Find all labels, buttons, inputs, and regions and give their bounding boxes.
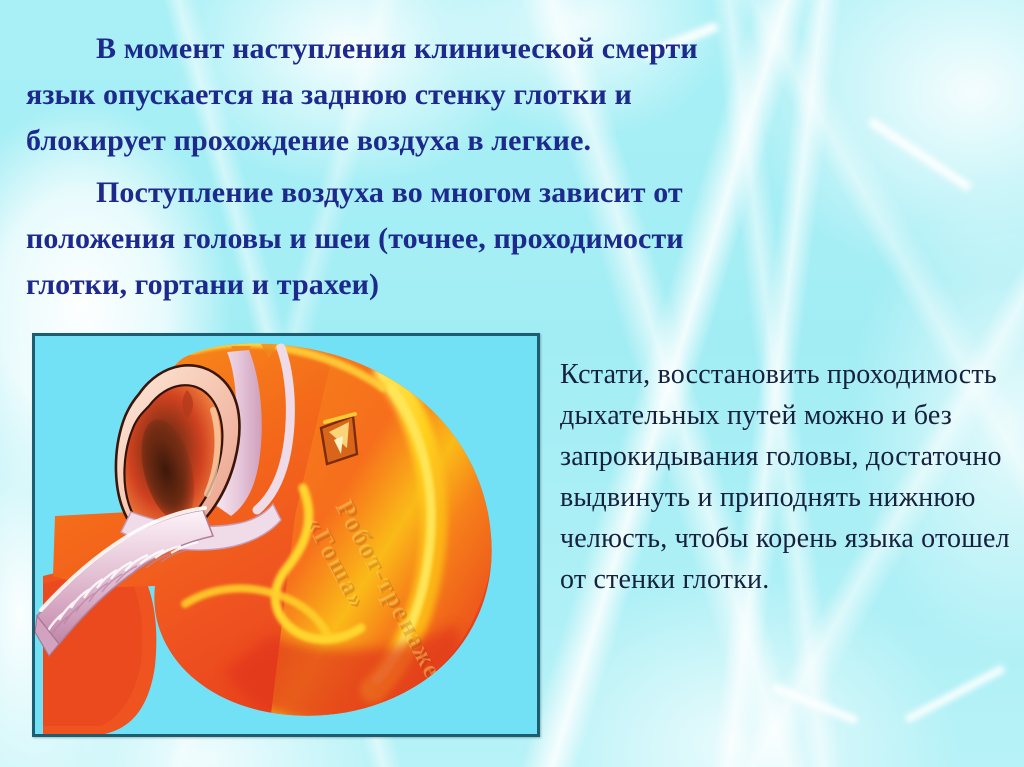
anatomy-figure: Робот-тренажер «Гоша» Робот-тренажер «Го…	[32, 333, 540, 737]
side-text-block: Кстати, восстановить проходимость дыхате…	[560, 354, 1012, 600]
slide-canvas: В момент наступления клинической смерти …	[0, 0, 1024, 767]
background-shard	[868, 117, 973, 192]
ear-cartilage-detail	[321, 414, 357, 464]
headline-paragraph-1: В момент наступления клинической смерти …	[26, 26, 726, 164]
anatomy-illustration-icon: Робот-тренажер «Гоша» Робот-тренажер «Го…	[35, 336, 537, 734]
headline-paragraph-2: Поступление воздуха во многом зависит от…	[26, 170, 726, 308]
background-shard	[772, 683, 858, 724]
side-paragraph-1: Кстати, восстановить проходимость дыхате…	[560, 354, 1012, 600]
anatomy-figure-background: Робот-тренажер «Гоша» Робот-тренажер «Го…	[35, 336, 537, 734]
headline-text-block: В момент наступления клинической смерти …	[26, 26, 726, 308]
background-shard	[905, 665, 1006, 724]
